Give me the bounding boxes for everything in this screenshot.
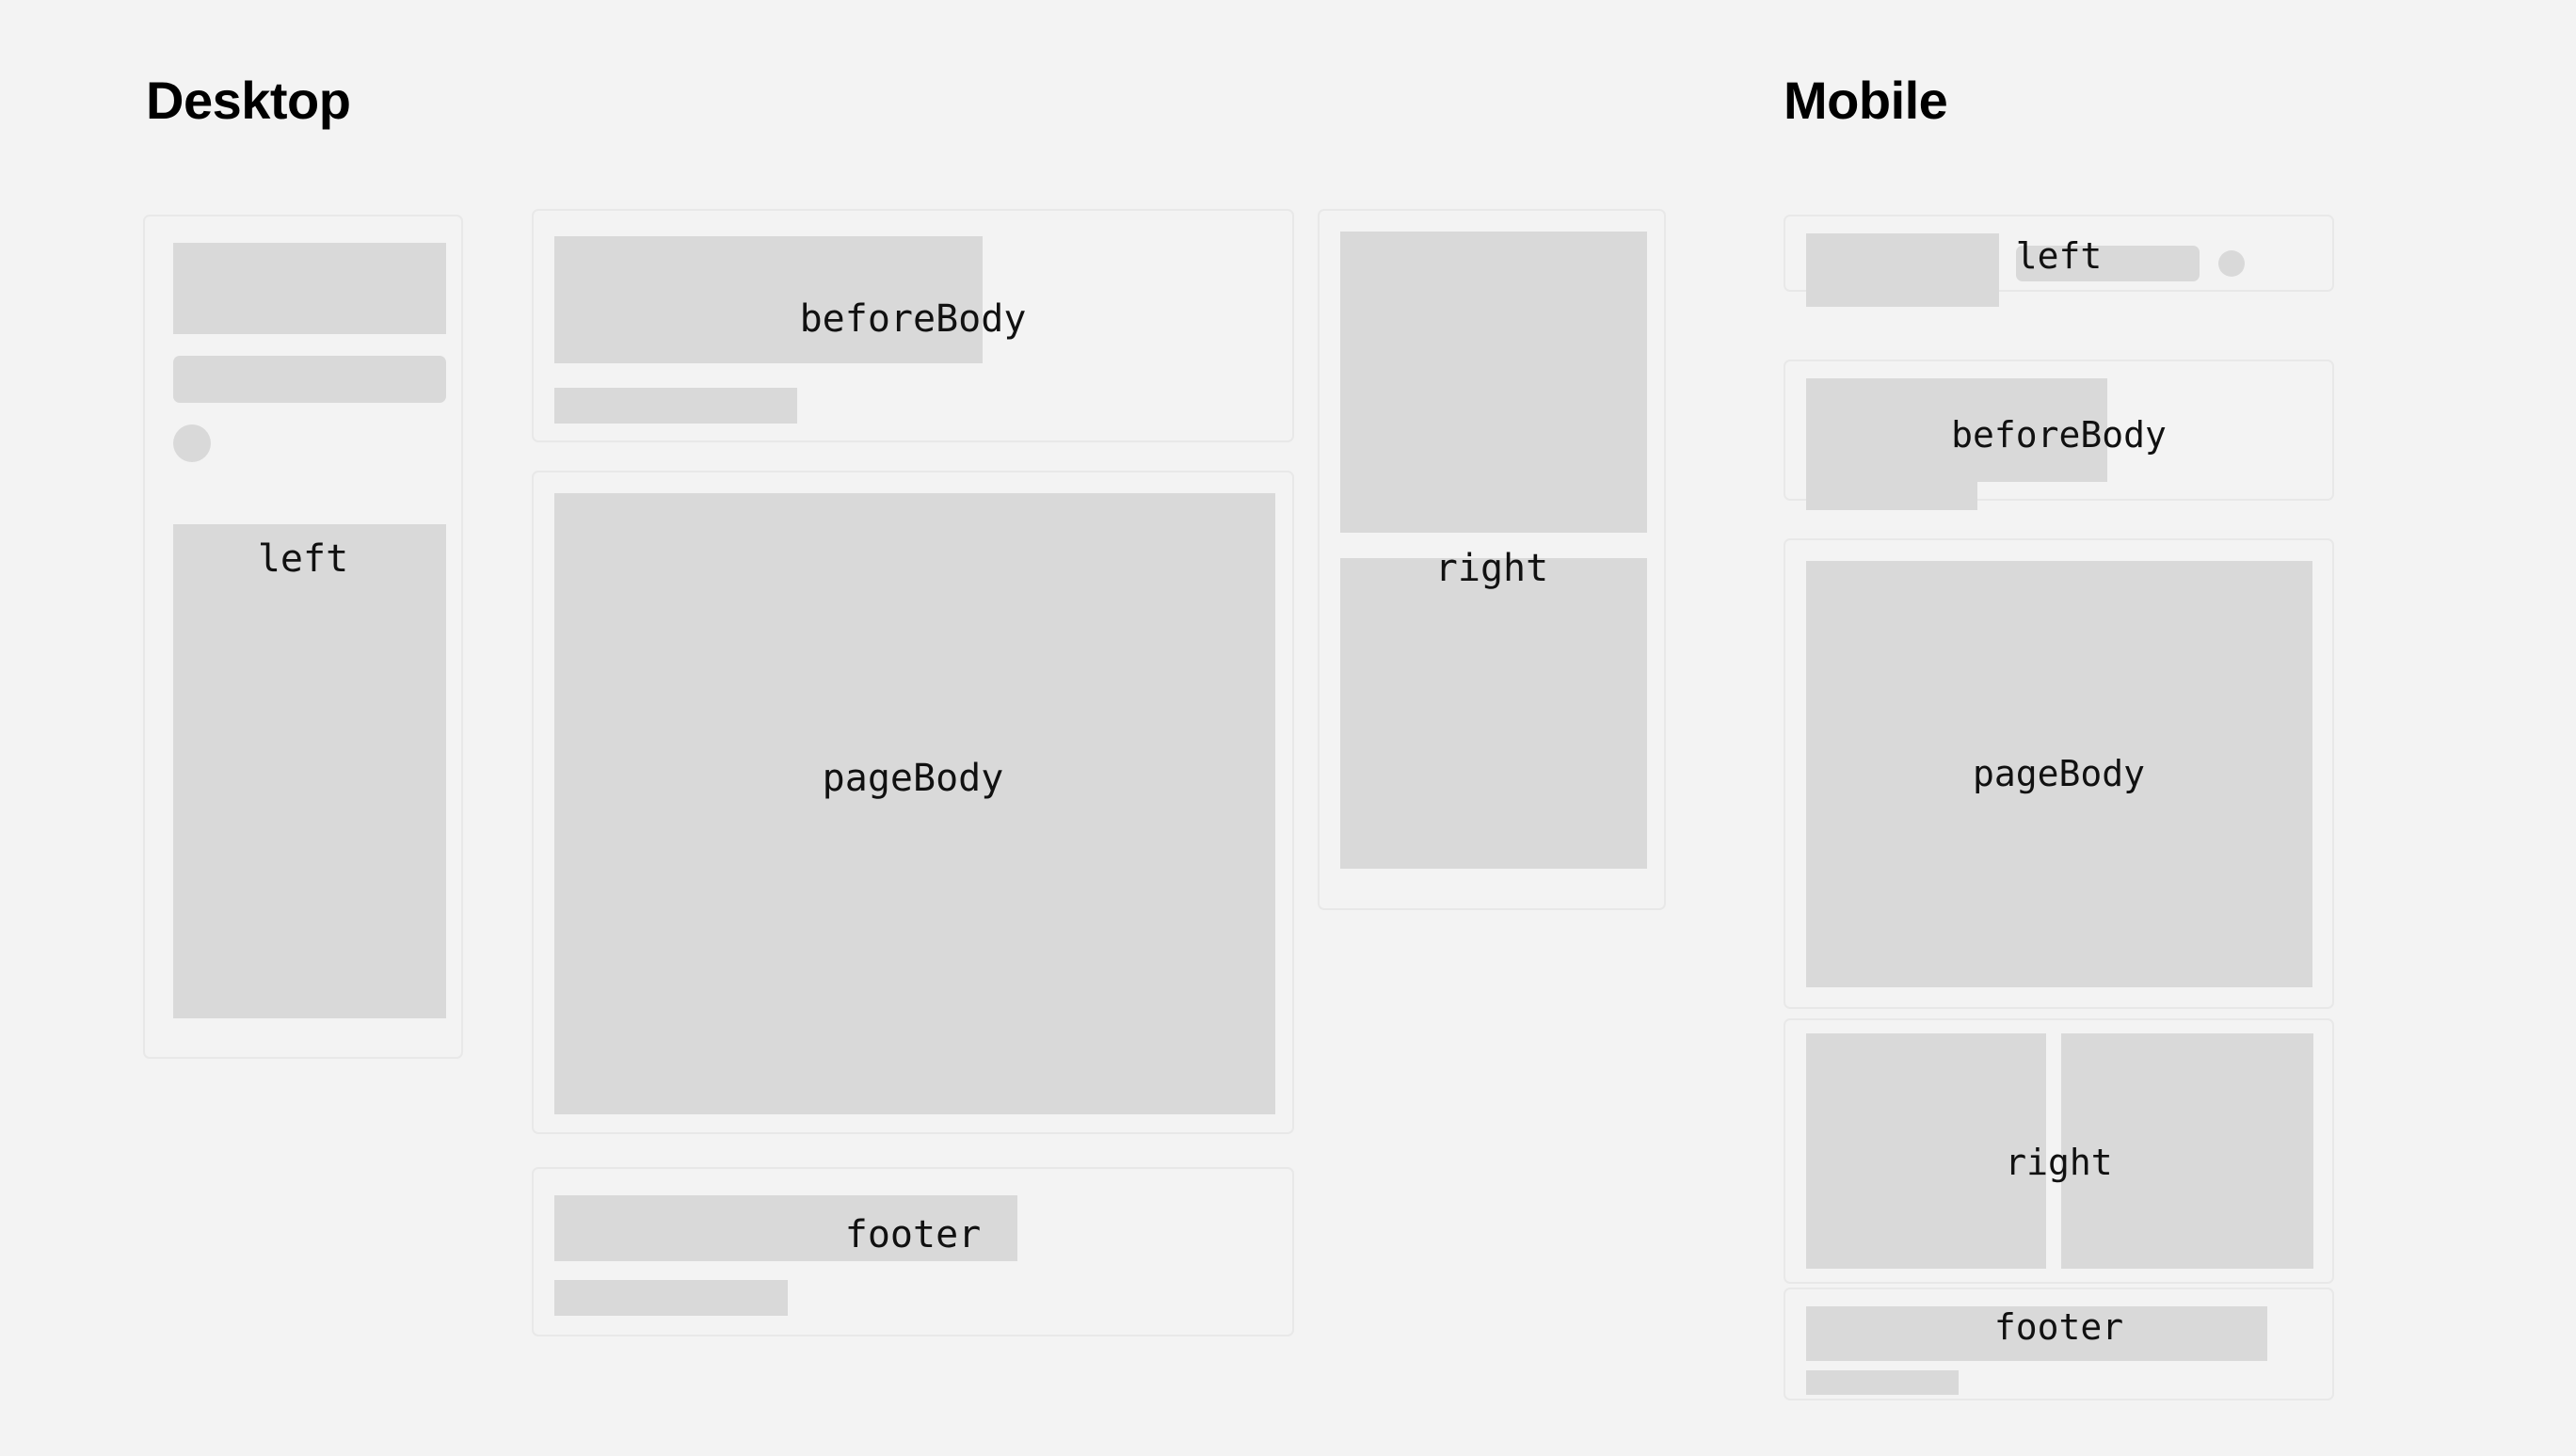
desktop-slot-footer-panel[interactable] bbox=[532, 1167, 1294, 1336]
mobile-slot-beforebody-panel[interactable] bbox=[1784, 360, 2334, 501]
mobile-beforebody-block-small-bar bbox=[1806, 482, 1977, 510]
mobile-slot-footer-panel[interactable] bbox=[1784, 1288, 2334, 1400]
desktop-beforebody-block-wide bbox=[554, 236, 983, 363]
desktop-right-block-top bbox=[1340, 232, 1647, 533]
desktop-pagebody-block-square bbox=[554, 493, 1275, 1114]
mobile-right-block-left bbox=[1806, 1033, 2046, 1269]
desktop-left-block-dot bbox=[173, 424, 211, 462]
desktop-left-block-tall bbox=[173, 524, 446, 1018]
mobile-left-block-large bbox=[1806, 233, 1999, 307]
mobile-footer-block-wide bbox=[1806, 1306, 2267, 1361]
mobile-footer-block-small-bar bbox=[1806, 1370, 1959, 1395]
desktop-footer-block-small-bar bbox=[554, 1280, 788, 1316]
mobile-left-block-bar bbox=[2016, 246, 2200, 281]
desktop-left-block-bar bbox=[173, 356, 446, 403]
mobile-slot-left-panel[interactable] bbox=[1784, 215, 2334, 292]
desktop-slot-pagebody-panel[interactable] bbox=[532, 471, 1294, 1134]
mobile-slot-pagebody-panel[interactable] bbox=[1784, 538, 2334, 1009]
mobile-beforebody-block-wide bbox=[1806, 378, 2107, 482]
desktop-left-block-large bbox=[173, 243, 446, 334]
mobile-left-block-dot bbox=[2218, 250, 2245, 277]
mobile-right-block-right bbox=[2061, 1033, 2313, 1269]
desktop-slot-beforebody-panel[interactable] bbox=[532, 209, 1294, 442]
mobile-slot-right-panel[interactable] bbox=[1784, 1018, 2334, 1284]
desktop-slot-left-panel[interactable] bbox=[143, 215, 463, 1059]
mobile-pagebody-block-square bbox=[1806, 561, 2312, 987]
desktop-section-title: Desktop bbox=[146, 74, 350, 127]
desktop-slot-right-panel[interactable] bbox=[1318, 209, 1666, 910]
desktop-right-block-bottom bbox=[1340, 558, 1647, 869]
desktop-footer-block-wide bbox=[554, 1195, 1017, 1261]
desktop-beforebody-block-small-bar bbox=[554, 388, 797, 424]
mobile-section-title: Mobile bbox=[1784, 74, 1947, 127]
